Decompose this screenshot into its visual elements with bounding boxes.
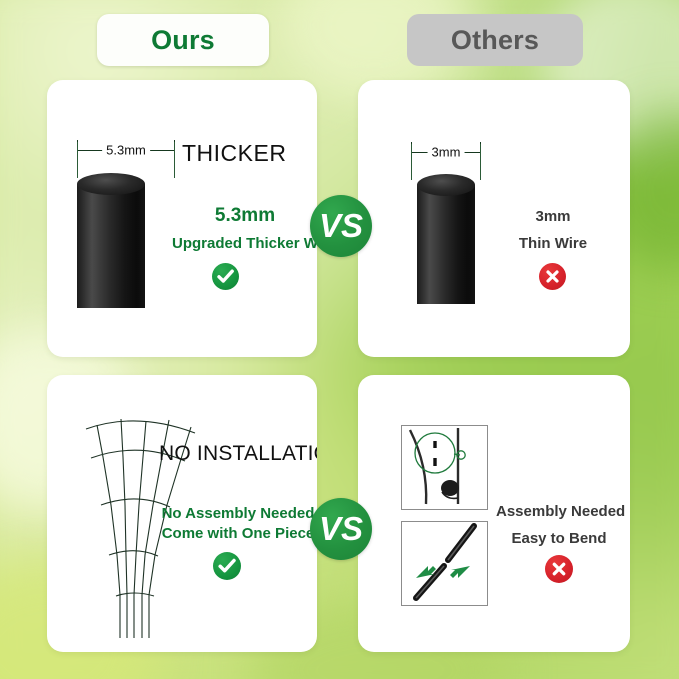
card-others-installation: Assembly Needed Easy to Bend <box>358 375 630 652</box>
cylinder-body <box>417 185 475 304</box>
cylinder-top-ellipse <box>417 174 475 196</box>
spec-text-line2-others: Easy to Bend <box>496 530 622 547</box>
spec-text-line1-others: Assembly Needed <box>496 503 622 520</box>
connector-joint-frame <box>401 425 488 510</box>
headline-no-installation: NO INSTALLATION <box>159 442 317 466</box>
tab-ours-label: Ours <box>151 25 215 56</box>
spec-value-ours: 5.3mm <box>182 205 308 227</box>
vs-badge-bottom-label: VS <box>319 510 363 548</box>
spec-text-line2-ours: Come with One Piece <box>159 525 317 542</box>
rod-bending-frame <box>401 521 488 606</box>
spec-value-others: 3mm <box>498 208 608 225</box>
card-ours-thickness: 5.3mm THICKER 5.3mm Upgraded Thicker Wir… <box>47 80 317 357</box>
dimension-3mm: 3mm <box>411 142 481 162</box>
rod-bending-illustration <box>402 522 485 603</box>
card-others-thickness: 3mm 3mm Thin Wire <box>358 80 630 357</box>
vs-badge-top-label: VS <box>319 207 363 245</box>
dimension-extension-right <box>174 142 175 178</box>
fan-trellis-illustration <box>57 405 217 640</box>
headline-thicker: THICKER <box>182 140 286 167</box>
cylinder-thick <box>77 173 145 308</box>
spec-text-others: Thin Wire <box>498 235 608 252</box>
cross-icon <box>539 263 566 290</box>
dimension-extension-right <box>480 144 481 180</box>
dimension-extension-left <box>411 144 412 180</box>
check-icon <box>213 552 241 580</box>
dimension-label: 5.3mm <box>102 143 150 158</box>
spec-text-ours: Upgraded Thicker Wire <box>172 235 317 252</box>
tab-others-label: Others <box>451 25 539 56</box>
cylinder-body <box>77 184 145 308</box>
cylinder-top-ellipse <box>77 173 145 195</box>
cross-icon <box>545 555 573 583</box>
check-icon <box>212 263 239 290</box>
spec-text-line1-ours: No Assembly Needed <box>159 505 317 522</box>
tab-others[interactable]: Others <box>407 14 583 66</box>
cylinder-thin <box>417 174 475 304</box>
dimension-5.3mm: 5.3mm <box>77 140 175 160</box>
card-ours-installation: NO INSTALLATION No Assembly Needed Come … <box>47 375 317 652</box>
vs-badge-top: VS <box>310 195 372 257</box>
vs-badge-bottom: VS <box>310 498 372 560</box>
infographic-root: Ours Others 5.3mm THICKER 5.3mm Upgraded… <box>0 0 679 679</box>
connector-joint-illustration <box>402 426 485 507</box>
tab-ours[interactable]: Ours <box>97 14 269 66</box>
dimension-label: 3mm <box>428 145 465 160</box>
